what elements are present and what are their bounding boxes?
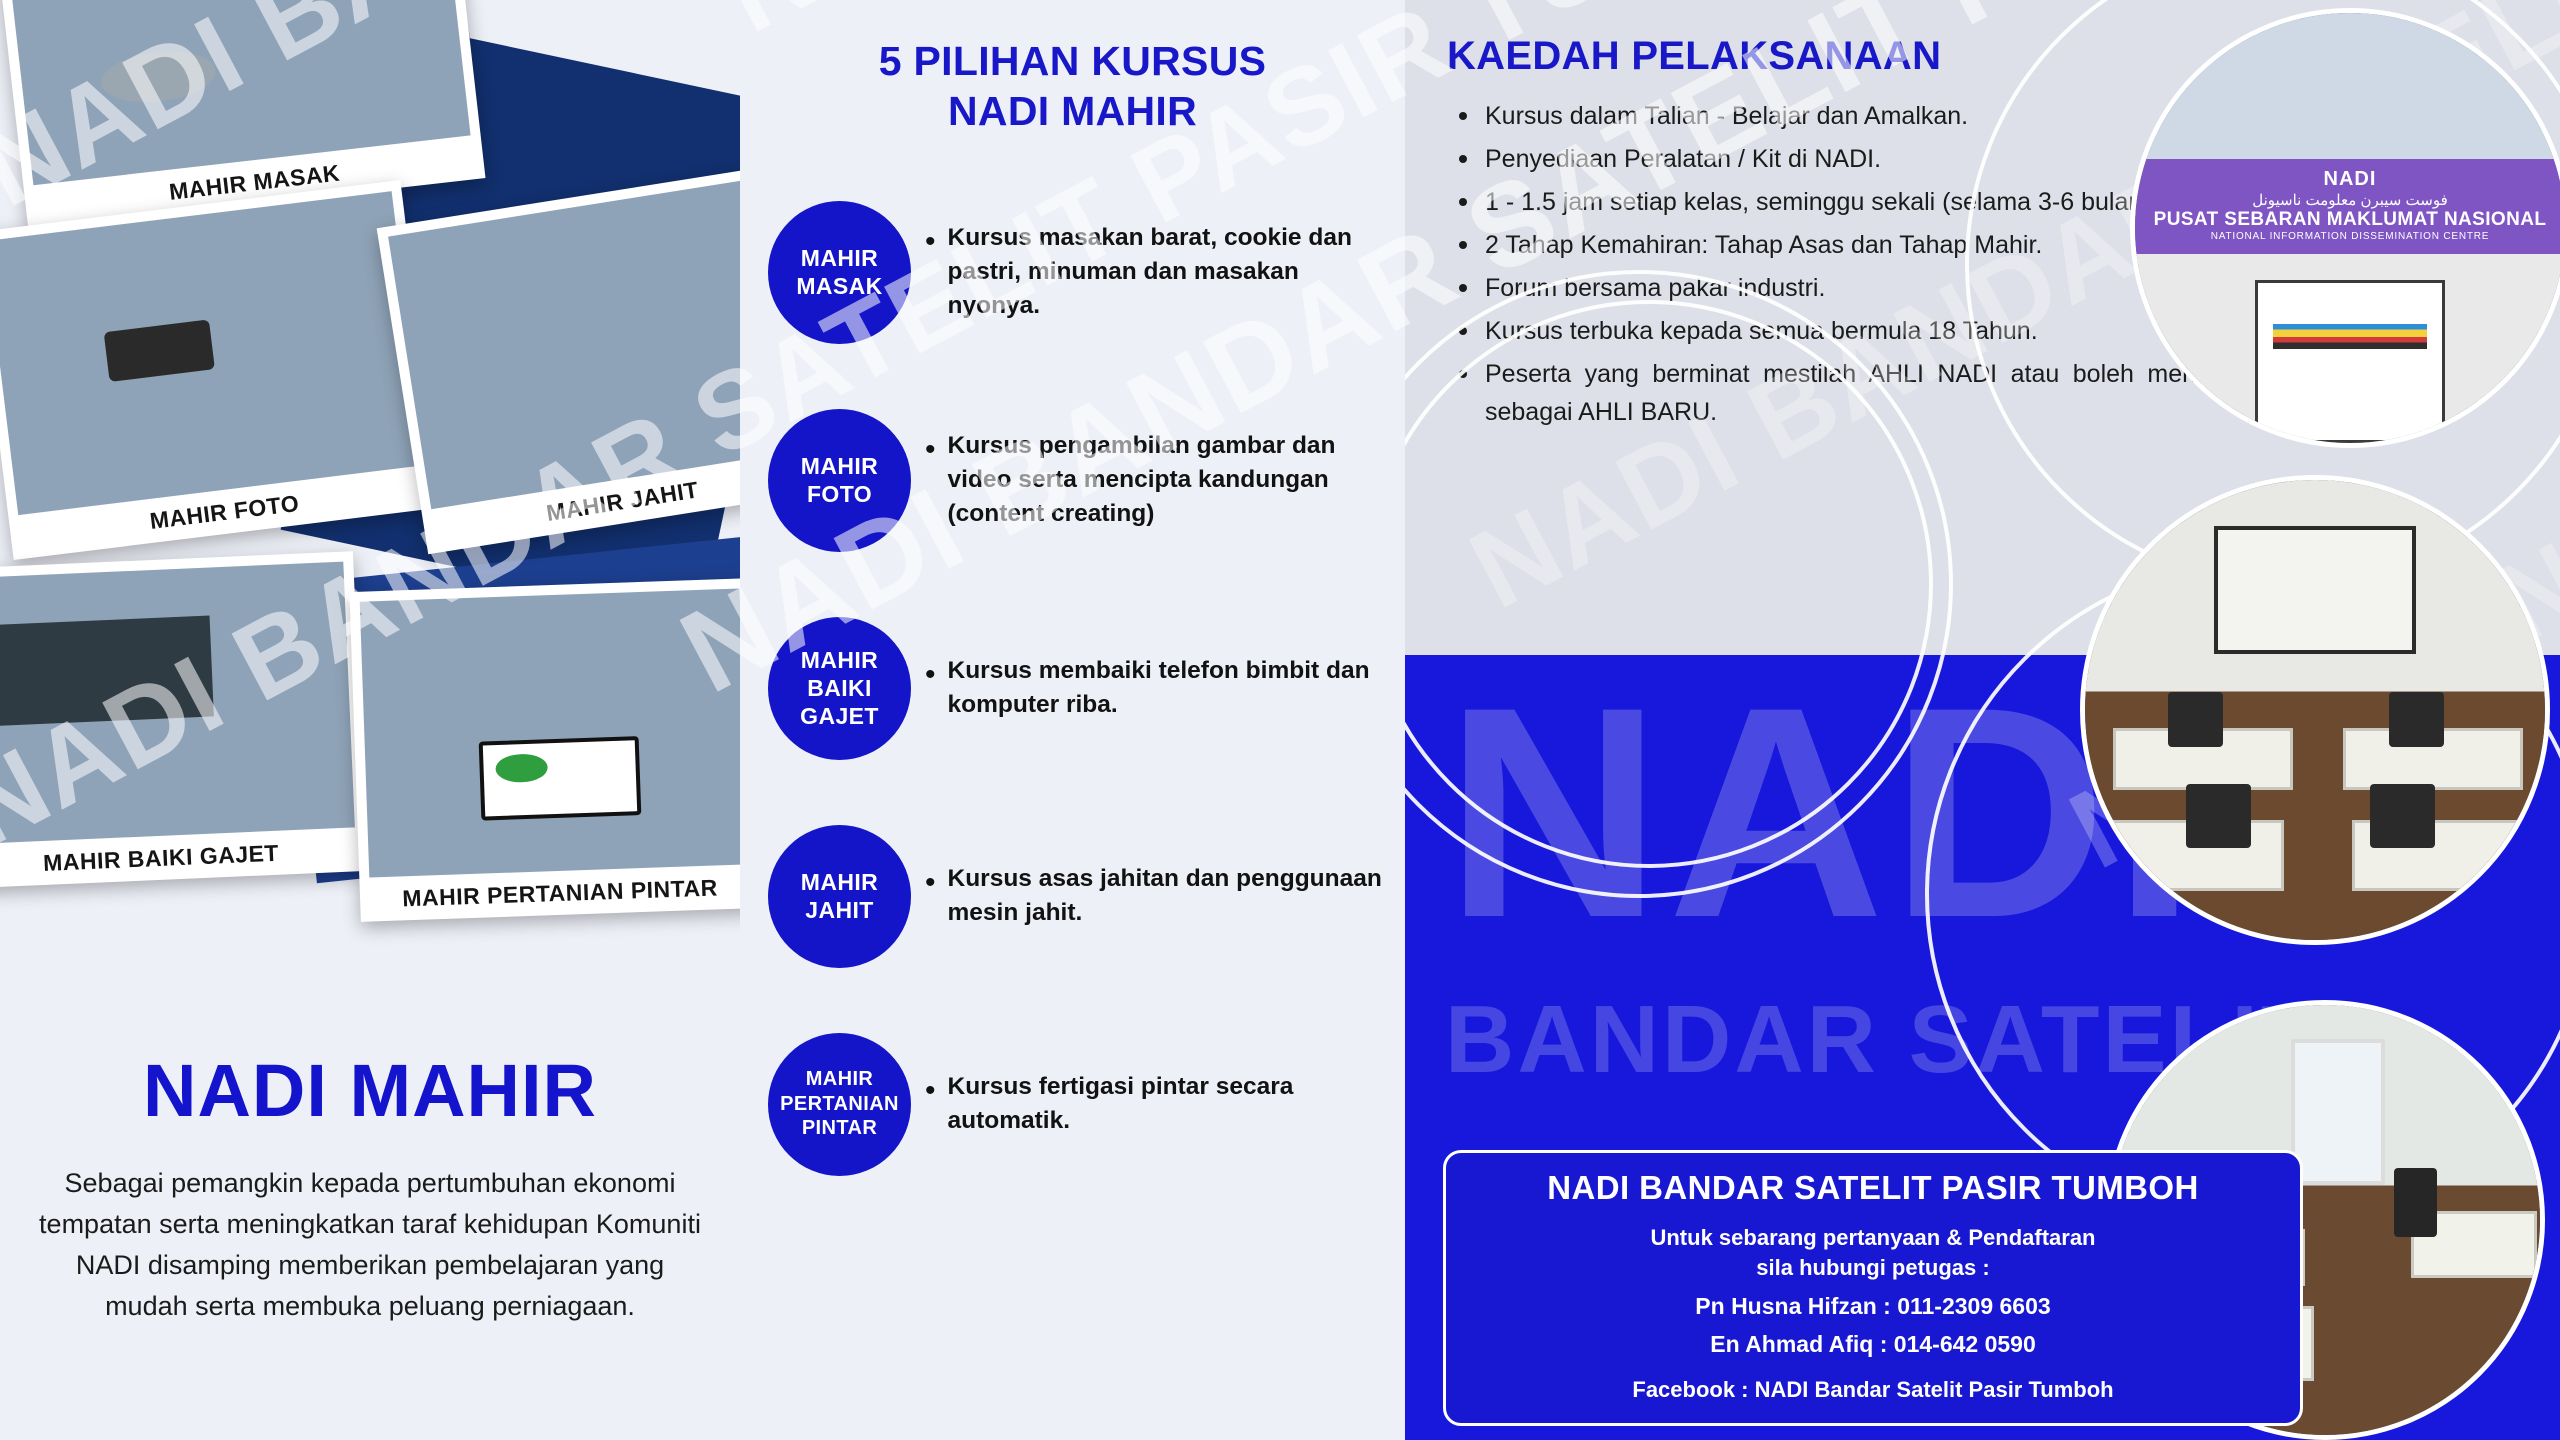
- course-description: Kursus pengambilan gambar dan video sert…: [948, 429, 1387, 532]
- photo-image-pertanian: [360, 588, 740, 877]
- poster-root: MAHIR MASAK MAHIR FOTO MAHIR JAHIT MAHIR…: [0, 0, 2560, 1440]
- bullet-icon: •: [925, 660, 936, 690]
- collage-photo: MAHIR PERTANIAN PINTAR: [349, 578, 740, 922]
- course-item[interactable]: MAHIRMASAK • Kursus masakan barat, cooki…: [740, 168, 1405, 376]
- photo-image-signage: NADI فوست سيبرن معلومت ناسيونل PUSAT SEB…: [2135, 13, 2560, 443]
- course-description: Kursus membaiki telefon bimbit dan kompu…: [948, 654, 1387, 723]
- courses-heading: 5 PILIHAN KURSUS NADI MAHIR: [740, 0, 1405, 136]
- glass-door: [2291, 1039, 2385, 1185]
- collage-photo: MAHIR JAHIT: [377, 166, 740, 555]
- contact-person-2[interactable]: En Ahmad Afiq : 014-642 0590: [1468, 1328, 2278, 1361]
- contact-title: NADI BANDAR SATELIT PASIR TUMBOH: [1468, 1169, 2278, 1207]
- photo-caption: MAHIR BAIKI GAJET: [0, 836, 366, 881]
- photo-image-gajet: [0, 562, 355, 845]
- course-item[interactable]: MAHIRJAHIT • Kursus asas jahitan dan pen…: [740, 792, 1405, 1000]
- course-item[interactable]: MAHIRBAIKIGAJET • Kursus membaiki telefo…: [740, 584, 1405, 792]
- course-bubble: MAHIRBAIKIGAJET: [768, 617, 911, 760]
- course-description: Kursus masakan barat, cookie dan pastri,…: [948, 221, 1387, 324]
- signage-malay: PUSAT SEBARAN MAKLUMAT NASIONAL: [2135, 209, 2560, 231]
- contact-person-1[interactable]: Pn Husna Hifzan : 011-2309 6603: [1468, 1290, 2278, 1323]
- contact-box: NADI BANDAR SATELIT PASIR TUMBOH Untuk s…: [1443, 1150, 2303, 1426]
- courses-list: MAHIRMASAK • Kursus masakan barat, cooki…: [740, 168, 1405, 1208]
- brand-paragraph: Sebagai pemangkin kepada pertumbuhan eko…: [38, 1163, 702, 1327]
- circle-photo-signage: NADI فوست سيبرن معلومت ناسيونل PUSAT SEB…: [2130, 8, 2560, 448]
- signage-text-group: NADI فوست سيبرن معلومت ناسيونل PUSAT SEB…: [2135, 168, 2560, 242]
- course-item[interactable]: MAHIRFOTO • Kursus pengambilan gambar da…: [740, 376, 1405, 584]
- course-bubble: MAHIRPERTANIANPINTAR: [768, 1033, 911, 1176]
- right-column: KAEDAH PELAKSANAAN Kursus dalam Talian -…: [1405, 0, 2560, 1440]
- course-item[interactable]: MAHIRPERTANIANPINTAR • Kursus fertigasi …: [740, 1000, 1405, 1208]
- course-description-row: • Kursus pengambilan gambar dan video se…: [925, 429, 1405, 532]
- photo-image-jahit: [388, 177, 740, 509]
- whiteboard: [2214, 526, 2416, 654]
- course-description-row: • Kursus masakan barat, cookie dan pastr…: [925, 221, 1405, 324]
- course-description-row: • Kursus fertigasi pintar secara automat…: [925, 1070, 1405, 1139]
- circle-photo-classroom: [2080, 475, 2550, 945]
- collage-photo: MAHIR FOTO: [0, 180, 441, 560]
- brand-block: NADI MAHIR Sebagai pemangkin kepada pert…: [0, 1000, 740, 1440]
- bullet-icon: •: [925, 435, 936, 465]
- photo-caption: MAHIR PERTANIAN PINTAR: [360, 873, 740, 914]
- bullet-icon: •: [925, 868, 936, 898]
- course-description-row: • Kursus membaiki telefon bimbit dan kom…: [925, 654, 1405, 723]
- left-column: MAHIR MASAK MAHIR FOTO MAHIR JAHIT MAHIR…: [0, 0, 740, 1440]
- contact-facebook[interactable]: Facebook : NADI Bandar Satelit Pasir Tum…: [1468, 1377, 2278, 1403]
- course-description: Kursus asas jahitan dan penggunaan mesin…: [948, 862, 1387, 931]
- courses-heading-line2: NADI MAHIR: [948, 88, 1197, 134]
- collage-photo: MAHIR BAIKI GAJET: [0, 551, 367, 889]
- course-bubble: MAHIRFOTO: [768, 409, 911, 552]
- bullet-icon: •: [925, 1076, 936, 1106]
- signage-door: [2255, 280, 2444, 443]
- bullet-icon: •: [925, 227, 936, 257]
- photo-image-classroom: [2085, 480, 2545, 940]
- contact-line1: Untuk sebarang pertanyaan & Pendaftaran: [1468, 1223, 2278, 1253]
- brand-title: NADI MAHIR: [0, 1000, 740, 1133]
- contact-line2: sila hubungi petugas :: [1468, 1253, 2278, 1283]
- course-description: Kursus fertigasi pintar secara automatik…: [948, 1070, 1387, 1139]
- courses-heading-line1: 5 PILIHAN KURSUS: [879, 38, 1267, 84]
- signage-english: NATIONAL INFORMATION DISSEMINATION CENTR…: [2135, 231, 2560, 242]
- middle-column: 5 PILIHAN KURSUS NADI MAHIR MAHIRMASAK •…: [740, 0, 1405, 1440]
- signage-jawi: فوست سيبرن معلومت ناسيونل: [2135, 191, 2560, 209]
- photo-image-foto: [0, 191, 425, 515]
- course-bubble: MAHIRJAHIT: [768, 825, 911, 968]
- course-description-row: • Kursus asas jahitan dan penggunaan mes…: [925, 862, 1405, 931]
- signage-acronym: NADI: [2135, 168, 2560, 191]
- course-bubble: MAHIRMASAK: [768, 201, 911, 344]
- photo-collage: MAHIR MASAK MAHIR FOTO MAHIR JAHIT MAHIR…: [0, 0, 740, 1000]
